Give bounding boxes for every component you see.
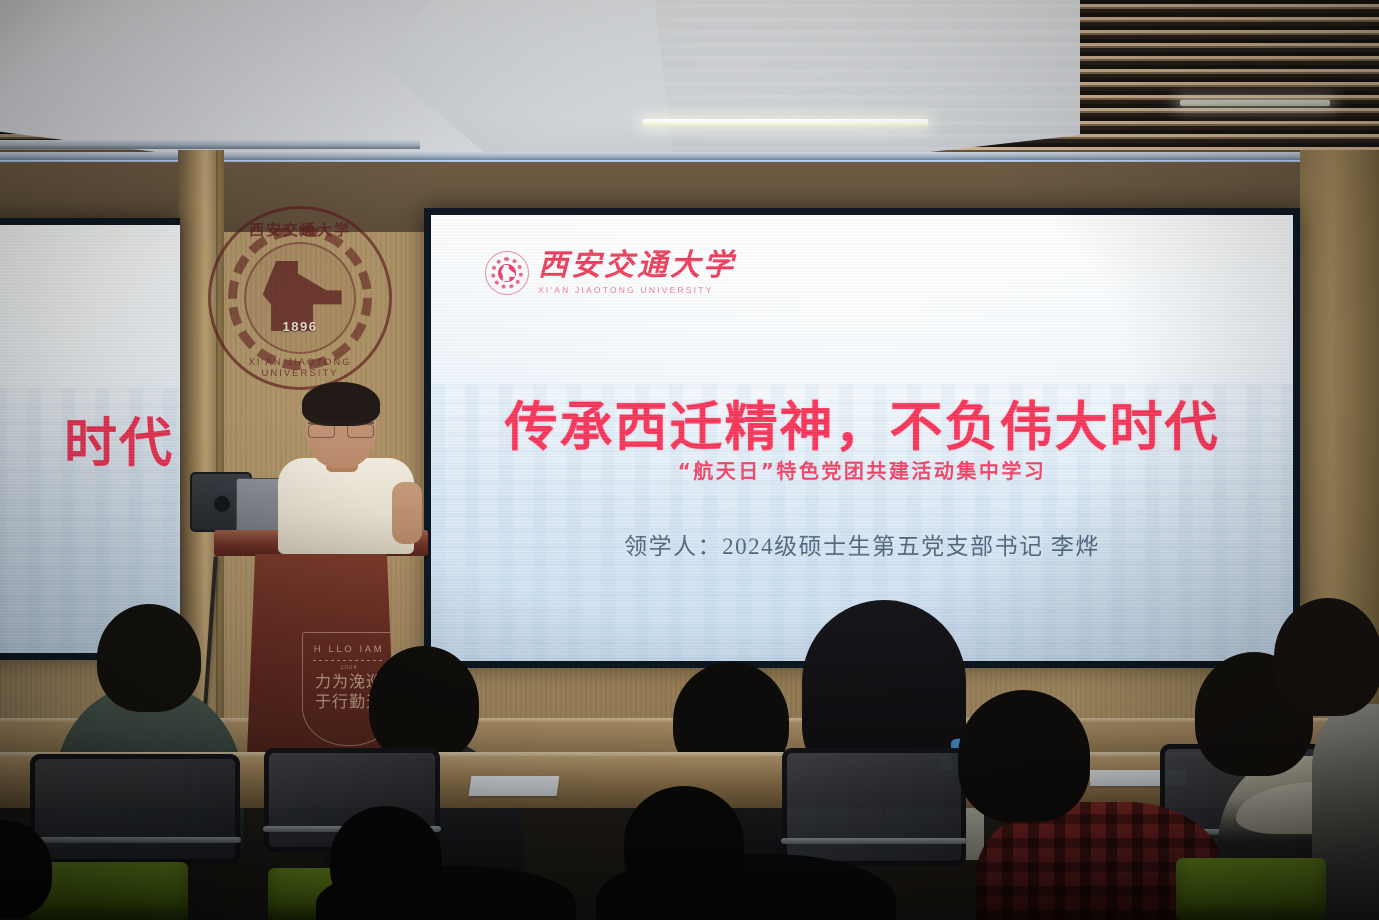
audience-head bbox=[330, 806, 442, 912]
paper-sheet bbox=[469, 776, 560, 796]
slide-logo-en: XI'AN JIAOTONG UNIVERSITY bbox=[538, 285, 736, 295]
secondary-slide-title-fragment: 时代 bbox=[64, 401, 174, 477]
presenter-hair bbox=[302, 382, 380, 426]
audience-head bbox=[97, 604, 201, 712]
foreground-audience-member bbox=[596, 786, 896, 920]
secondary-screen-surface: 时代 bbox=[0, 225, 180, 653]
presenter-person bbox=[272, 386, 418, 546]
tablet-camera-icon bbox=[214, 496, 230, 512]
main-projection-screen: 西安交通大学 XI'AN JIAOTONG UNIVERSITY 传承西迁精神，… bbox=[424, 208, 1300, 668]
audience-head bbox=[958, 690, 1090, 822]
foreground-audience-member bbox=[316, 806, 576, 920]
ceiling-tube-light-secondary bbox=[1180, 100, 1330, 106]
audience-member-right-edge bbox=[1318, 598, 1379, 920]
audience-head bbox=[624, 786, 744, 898]
ceiling-soffit-panel-b bbox=[380, 0, 1080, 166]
lecture-hall-photo: 西安交通大学 1896 XI'AN JIAOTONG UNIVERSITY 时代 bbox=[0, 0, 1379, 920]
green-chair-back bbox=[1176, 858, 1326, 920]
ceiling-edge-trim-left bbox=[0, 140, 420, 149]
slide-title: 传承西迁精神，不负伟大时代 bbox=[431, 385, 1293, 461]
slide-presenter-line: 领学人：2024级硕士生第五党支部书记 李烨 bbox=[431, 527, 1293, 561]
slide-university-logo: 西安交通大学 XI'AN JIAOTONG UNIVERSITY bbox=[485, 251, 736, 295]
presenter-arm bbox=[392, 482, 422, 544]
slide-logo-text-block: 西安交通大学 XI'AN JIAOTONG UNIVERSITY bbox=[538, 251, 736, 295]
slide-subtitle: “航天日”特色党团共建活动集中学习 bbox=[431, 455, 1293, 484]
audience-head bbox=[369, 646, 479, 762]
main-screen-surface: 西安交通大学 XI'AN JIAOTONG UNIVERSITY 传承西迁精神，… bbox=[431, 215, 1293, 661]
wall-seal-en-text: XI'AN JIAOTONG UNIVERSITY bbox=[211, 357, 389, 379]
audience-head bbox=[0, 820, 52, 918]
ceiling-tube-light bbox=[643, 119, 928, 127]
audience-head bbox=[1274, 598, 1379, 716]
wall-seal-year: 1896 bbox=[211, 319, 389, 334]
slide-seal-icon bbox=[485, 251, 529, 295]
foreground-audience-head bbox=[0, 820, 160, 920]
slide-logo-cn: 西安交通大学 bbox=[538, 251, 736, 281]
secondary-projection-screen: 时代 bbox=[0, 218, 180, 660]
wall-university-seal: 西安交通大学 1896 XI'AN JIAOTONG UNIVERSITY bbox=[208, 206, 392, 390]
presenter-glasses-icon bbox=[308, 422, 374, 434]
